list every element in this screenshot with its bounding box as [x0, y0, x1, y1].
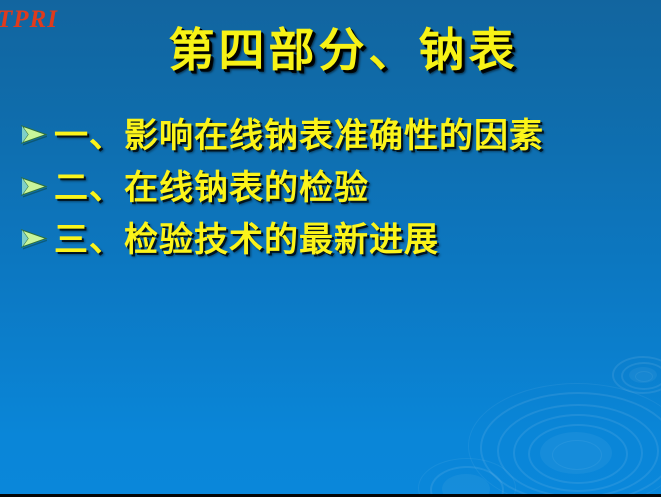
list-item-label: 三、检验技术的最新进展	[54, 223, 439, 257]
slide-title-text: 第四部分、钠表	[143, 23, 519, 77]
ripple-ring-small	[629, 367, 657, 383]
ripple-ring	[528, 424, 628, 484]
agenda-list: 一、影响在线钠表准确性的因素 二、在线钠表的检验 三、检验技术的最新进展	[18, 110, 651, 266]
slide-title: 第四部分、钠表	[0, 22, 661, 80]
ripple-ring	[513, 414, 643, 492]
list-item-label: 一、影响在线钠表准确性的因素	[54, 119, 544, 153]
ripple-ring-partial	[418, 458, 516, 497]
arrow-bullet-icon	[18, 121, 50, 151]
presentation-slide: TPRI 第四部分、钠表 一、影响在线钠表准确性的因素	[0, 0, 661, 497]
list-item[interactable]: 三、检验技术的最新进展	[18, 214, 651, 266]
ripple-ring	[497, 404, 659, 497]
ripple-ring	[468, 383, 661, 497]
ripple-ring-small	[635, 371, 653, 382]
ripple-ring	[480, 392, 661, 497]
ripple-ring	[540, 432, 612, 474]
list-item[interactable]: 二、在线钠表的检验	[18, 162, 651, 214]
list-item[interactable]: 一、影响在线钠表准确性的因素	[18, 110, 651, 162]
arrow-bullet-icon	[18, 225, 50, 255]
list-item-label: 二、在线钠表的检验	[54, 171, 369, 205]
ripple-ring	[552, 440, 602, 470]
ripple-ring-small	[621, 362, 661, 390]
arrow-bullet-icon	[18, 173, 50, 203]
ripple-ring-partial	[430, 466, 504, 497]
ripple-ring-small	[612, 356, 661, 394]
